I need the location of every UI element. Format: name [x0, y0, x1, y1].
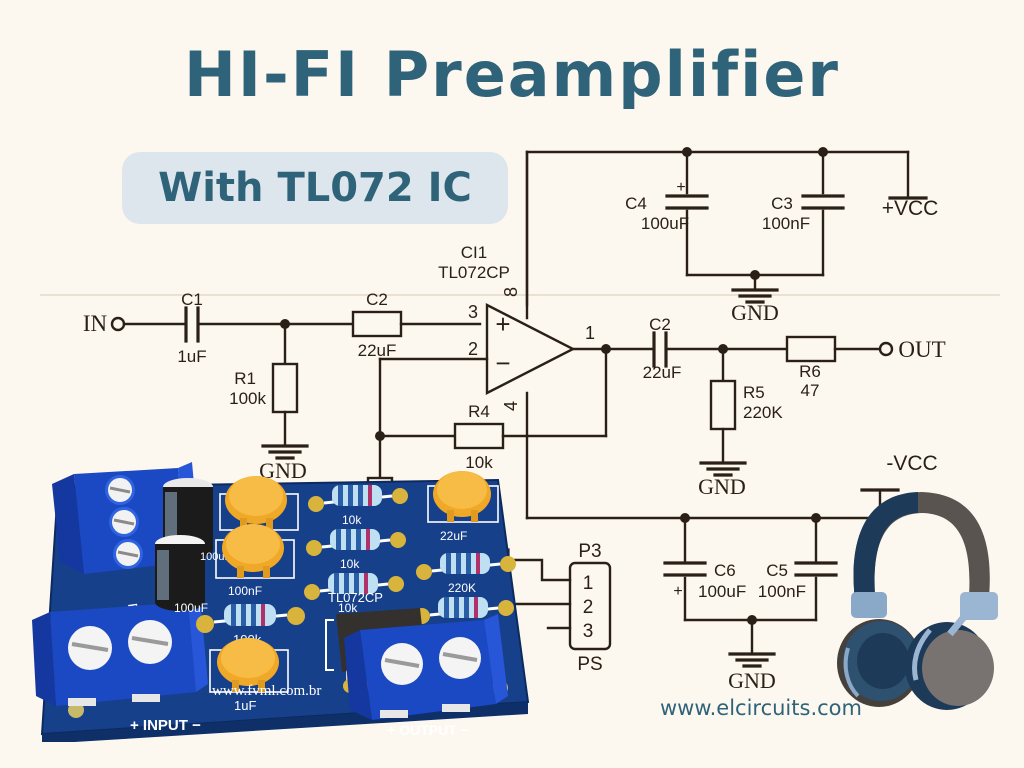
r6-ref: R6: [799, 362, 821, 381]
pcb-url-label: www.fvml.com.br: [212, 683, 321, 699]
capacitor-c2: [606, 333, 723, 366]
opamp-plus-sign: +: [495, 309, 510, 339]
resistor-r1: [263, 324, 307, 458]
pcb-output-label: + OUTPUT −: [387, 722, 469, 738]
opamp-pin-3-label: 3: [468, 302, 478, 322]
opamp-pin-2-label: 2: [468, 339, 478, 359]
capacitor-c6: +: [665, 513, 705, 620]
c4-value: 100uF: [641, 214, 689, 233]
resistor-r2: [285, 312, 480, 336]
capacitor-c3: [803, 147, 843, 275]
pcb-silk-10k-a: 10k: [342, 513, 362, 527]
vcc-positive-rail: [527, 152, 926, 318]
c6-value: 100uF: [698, 582, 746, 601]
pcb-silk-10k-b: 10k: [340, 557, 360, 571]
r1-ref: R1: [234, 369, 256, 388]
pcb-silk-100nf-b: 100nF: [228, 584, 262, 598]
r4-ref: R4: [468, 402, 490, 421]
c2-value: 22uF: [643, 363, 682, 382]
gnd-label-output: GND: [698, 474, 746, 499]
gnd-label-top: GND: [731, 300, 779, 325]
c5-value: 100nF: [758, 582, 806, 601]
c6-ref: C6: [714, 561, 736, 580]
c1-value: 1uF: [177, 347, 206, 366]
connector-p3-ref: P3: [578, 541, 601, 562]
c4-polarity: +: [676, 179, 685, 196]
opamp-pin-8-label: 8: [501, 287, 521, 297]
input-terminal-node: [112, 318, 124, 330]
resistor-r5: [701, 349, 745, 475]
ground-bottom: [685, 615, 816, 666]
vcc-positive-label: +VCC: [882, 197, 939, 220]
pcb-input-label: + INPUT −: [130, 717, 201, 734]
r2-value: 22uF: [358, 341, 397, 360]
pcb-silk-100uf-b: 100uF: [174, 601, 208, 615]
capacitor-c4: +: [667, 147, 707, 275]
pcb-cap-100uf-b: [155, 535, 205, 611]
ic-part: TL072CP: [438, 263, 510, 282]
resistor-r6: [723, 337, 879, 361]
c2-ref: C2: [649, 315, 671, 334]
pcb-silk-1uf: 1uF: [234, 698, 256, 713]
pcb-terminal-output: [344, 614, 508, 720]
input-terminal-label: IN: [83, 311, 108, 336]
c6-polarity: +: [673, 583, 682, 600]
capacitor-c5: [796, 513, 836, 620]
connector-p3-pin-2: 2: [583, 597, 594, 618]
output-terminal-label: OUT: [898, 337, 945, 362]
vcc-negative-label: -VCC: [886, 452, 937, 475]
ic-ref: CI1: [461, 243, 487, 262]
output-terminal-node: [880, 343, 892, 355]
opamp-pin-1-label: 1: [585, 323, 595, 343]
ground-top: [687, 270, 823, 302]
opamp-minus-sign: −: [495, 348, 510, 378]
pcb-ic-label: TL072CP: [328, 590, 383, 605]
connector-p3-pin-1: 1: [583, 573, 594, 594]
poster-root: HI-FI Preamplifier With TL072 IC www.elc…: [0, 0, 1024, 768]
r6-value: 47: [801, 381, 820, 400]
r1-value: 100k: [229, 389, 266, 408]
headphones-icon: [837, 492, 998, 710]
pcb-photo: .silk{ font-family:"Liberation Sans", sa…: [28, 452, 548, 742]
opamp-pin-4-label: 4: [501, 401, 521, 411]
r5-ref: R5: [743, 383, 765, 402]
c5-ref: C5: [766, 561, 788, 580]
gnd-label-bottom: GND: [728, 668, 776, 693]
connector-p3-name: PS: [577, 654, 602, 675]
pcb-silk-22uf: 22uF: [440, 529, 467, 543]
c4-ref: C4: [625, 194, 647, 213]
connector-p3-pin-3: 3: [583, 621, 594, 642]
r5-value: 220K: [743, 403, 783, 422]
pcb-silk-220k: 220K: [448, 581, 476, 595]
r2-ref: C2: [366, 290, 388, 309]
c3-value: 100nF: [762, 214, 810, 233]
c1-ref: C1: [181, 290, 203, 309]
c3-ref: C3: [771, 194, 793, 213]
capacitor-c1: [124, 308, 285, 341]
